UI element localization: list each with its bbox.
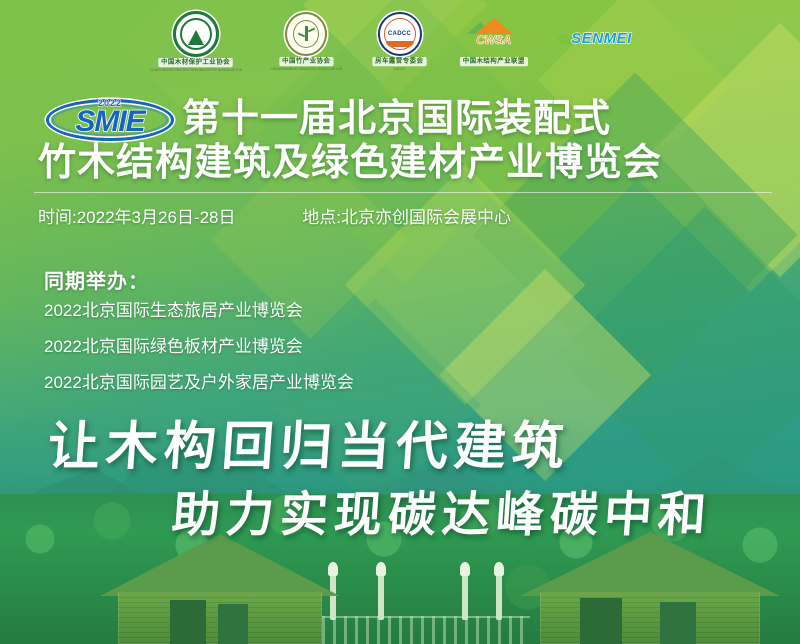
bamboo-seal-icon — [285, 12, 327, 56]
list-item: 2022北京国际园艺及户外家居产业博览会 — [44, 374, 564, 392]
logo-caption-cn: 房车露营专委会 — [373, 57, 427, 66]
cabin-body — [540, 592, 760, 644]
cadcc-logo: CADCC 房车露营专委会 CADCC — [370, 12, 429, 71]
china-wood-protection-association-logo: 中国木材保护工业协会 CHINA WOOD PROTECTION INDUSTR… — [150, 11, 242, 72]
wooden-cabin — [100, 534, 340, 644]
cabin-window — [660, 602, 696, 644]
tree-seal-icon — [173, 11, 219, 57]
cwsa-logo: CWSA 中国木结构产业联盟 — [457, 16, 531, 67]
list-item: 2022北京国际绿色板材产业博览会 — [44, 338, 564, 356]
logo-caption-en: CHINA BAMBOO INDUSTRY ASSOCIATION — [270, 67, 342, 71]
cabin-door — [170, 600, 206, 644]
house-roof-icon: CWSA — [465, 16, 523, 56]
leaf-icon: SENMEI — [558, 26, 650, 56]
patio-umbrella-icon — [462, 570, 468, 620]
bamboo-association-logo: 中国竹产业协会 CHINA BAMBOO INDUSTRY ASSOCIATIO… — [270, 12, 342, 71]
slogan-line2: 助力实现碳达峰碳中和 — [170, 488, 714, 542]
cabin-window — [218, 604, 248, 644]
patio-umbrella-icon — [496, 570, 502, 620]
patio-umbrella-icon — [378, 570, 384, 620]
event-venue: 地点:北京亦创国际会展中心 — [302, 203, 511, 228]
logo-caption-cn: 中国木材保护工业协会 — [159, 58, 234, 67]
smie-logo: 2022 SMIE — [46, 96, 174, 144]
smie-wordmark: SMIE — [75, 105, 144, 139]
exhibition-poster: 中国木材保护工业协会 CHINA WOOD PROTECTION INDUSTR… — [0, 0, 800, 644]
sponsor-logo-strip: 中国木材保护工业协会 CHINA WOOD PROTECTION INDUSTR… — [0, 6, 800, 76]
event-meta: 时间:2022年3月26日-28日 地点:北京亦创国际会展中心 — [38, 203, 758, 228]
cabin-door — [580, 598, 622, 644]
senmei-wordmark: SENMEI — [571, 30, 632, 47]
logo-caption-en: CADCC — [393, 67, 406, 71]
logo-caption-cn: 中国竹产业协会 — [279, 57, 333, 66]
event-date: 时间:2022年3月26日-28日 — [38, 203, 235, 228]
cadcc-abbr: CADCC — [387, 31, 412, 37]
concurrent-events-list: 2022北京国际生态旅居产业博览会 2022北京国际绿色板材产业博览会 2022… — [44, 302, 564, 410]
cwsa-abbr: CWSA — [465, 33, 523, 47]
poster-title-line2: 竹木结构建筑及绿色建材产业博览会 — [38, 142, 662, 184]
cabin-roof — [100, 534, 340, 596]
cadcc-seal-icon: CADCC — [378, 12, 422, 56]
logo-caption-en: CHINA WOOD PROTECTION INDUSTRY ASSOCIATI… — [150, 68, 242, 72]
concurrent-heading: 同期举办： — [44, 265, 149, 294]
logo-caption-cn: 中国木结构产业联盟 — [460, 57, 528, 66]
wooden-cabin — [520, 532, 780, 644]
poster-title-line1: 第十一届北京国际装配式 — [182, 98, 611, 140]
list-item: 2022北京国际生态旅居产业博览会 — [44, 302, 564, 320]
senmei-logo: SENMEI — [558, 26, 650, 56]
title-divider — [34, 192, 772, 193]
slogan-line1: 让木构回归当代建筑 — [46, 418, 572, 476]
